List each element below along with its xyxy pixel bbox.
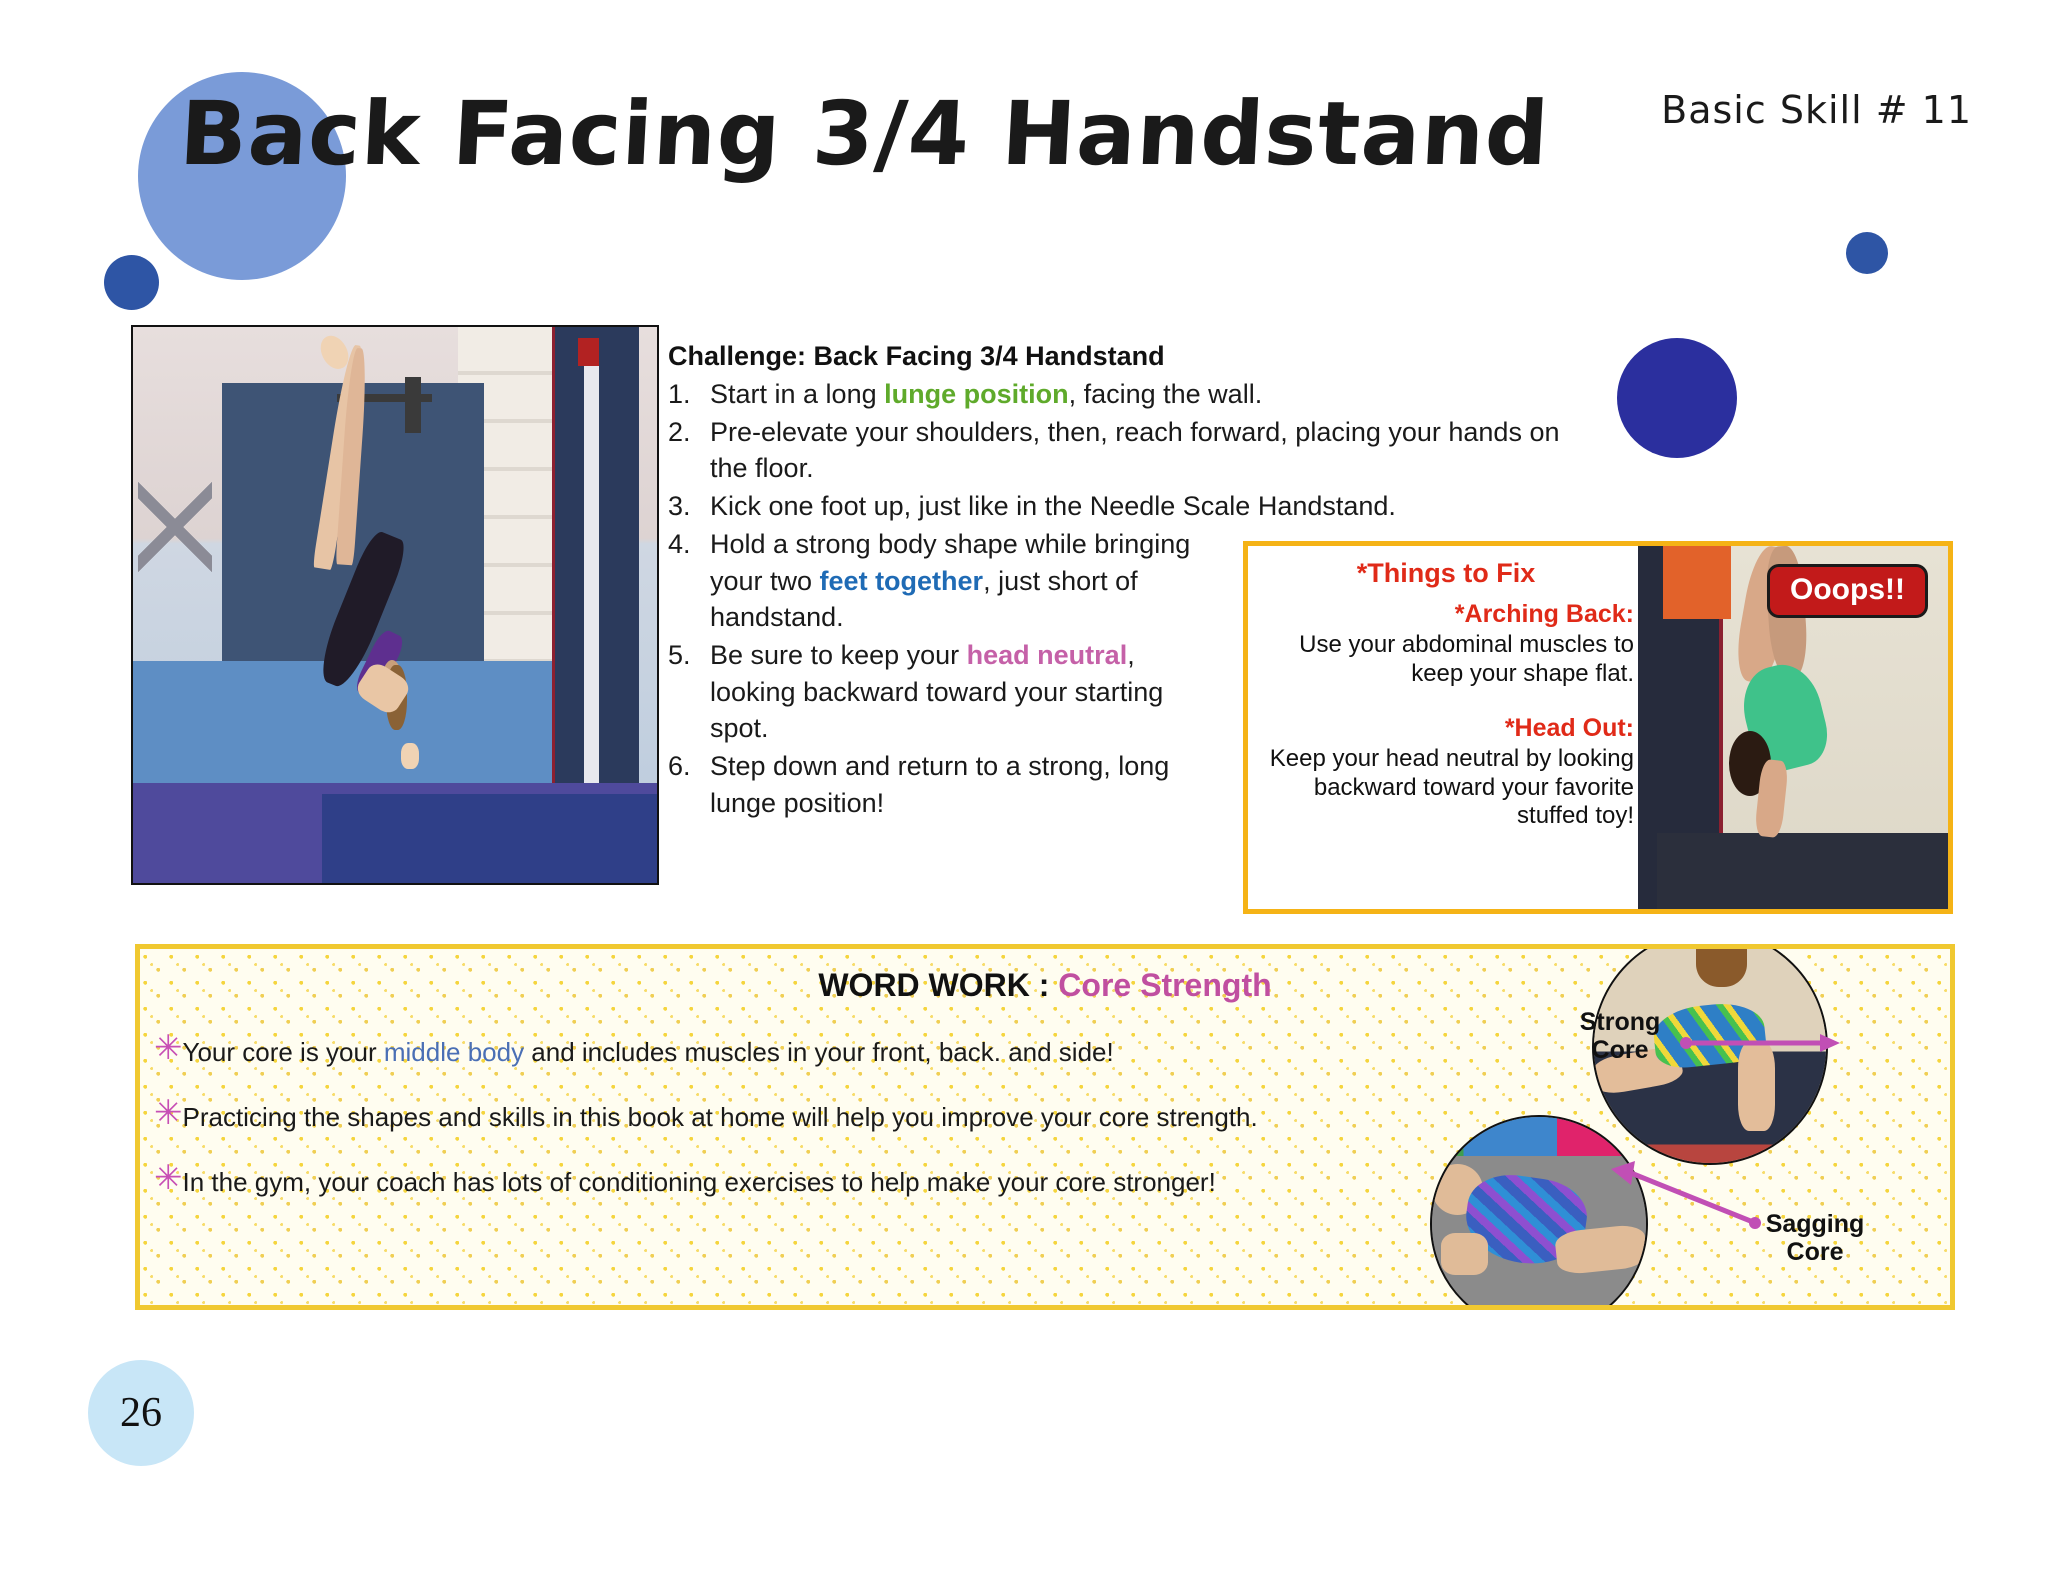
strong-core-arm — [1738, 1042, 1775, 1130]
text-fragment: Pre-elevate your shoulders, then, reach … — [710, 417, 1560, 484]
text-fragment: , facing the wall. — [1069, 379, 1263, 409]
decorative-circle-dark-small-right — [1846, 232, 1888, 274]
sagging-core-mat-strip — [1449, 1117, 1629, 1156]
photo-background-equipment — [138, 460, 211, 593]
photo-floor-mat — [322, 794, 657, 883]
instruction-number: 5. — [668, 637, 710, 747]
strong-core-label: Strong Core — [1560, 1009, 1680, 1064]
sagging-core-arrow-icon — [1605, 1159, 1765, 1239]
text-fragment: Practicing the shapes and skills in this… — [183, 1102, 1258, 1132]
word-work-label: WORD WORK : — [818, 967, 1058, 1003]
text-fragment: Step down and return to a strong, long l… — [710, 751, 1169, 818]
things-to-fix-title: *Things to Fix — [1258, 558, 1634, 590]
ooops-badge: Ooops!! — [1767, 564, 1928, 618]
word-work-bullet-list: ✳Your core is your middle body and inclu… — [154, 1037, 1394, 1233]
word-work-bullet-text: Your core is your middle body and includ… — [183, 1037, 1114, 1068]
things-to-fix-box: *Things to Fix *Arching Back: Use your a… — [1243, 541, 1953, 914]
instruction-text: Step down and return to a strong, long l… — [710, 748, 1210, 821]
instruction-item: 3.Kick one foot up, just like in the Nee… — [668, 488, 1573, 525]
instruction-text: Pre-elevate your shoulders, then, reach … — [710, 414, 1573, 487]
fix-item-heading-0: *Arching Back: — [1258, 600, 1634, 630]
fix-photo-floor — [1657, 833, 1948, 909]
strong-core-label-line2: Core — [1560, 1037, 1680, 1065]
page-title: Back Facing 3/4 Handstand — [177, 82, 1552, 185]
instruction-number: 3. — [668, 488, 710, 525]
decorative-circle-dark-left — [104, 255, 159, 310]
word-work-bullet: ✳Practicing the shapes and skills in thi… — [154, 1102, 1394, 1133]
asterisk-icon: ✳ — [154, 1031, 183, 1065]
main-skill-photo — [131, 325, 659, 885]
things-to-fix-photo: Ooops!! — [1638, 546, 1948, 909]
things-to-fix-text-column: *Things to Fix *Arching Back: Use your a… — [1248, 546, 1648, 909]
fix-item-heading-1: *Head Out: — [1258, 714, 1634, 744]
text-fragment: middle body — [384, 1037, 524, 1067]
word-work-term: Core Strength — [1058, 967, 1271, 1003]
text-fragment: Start in a long — [710, 379, 884, 409]
instruction-number: 2. — [668, 414, 710, 487]
text-fragment: feet together — [820, 566, 984, 596]
strong-core-vase — [1696, 944, 1747, 987]
text-fragment: head neutral — [967, 640, 1128, 670]
instruction-text: Be sure to keep your head neutral, looki… — [710, 637, 1210, 747]
photo-right-pad-stripe — [584, 349, 600, 783]
strong-core-label-line1: Strong — [1560, 1009, 1680, 1037]
photo-red-tag — [578, 338, 599, 366]
text-fragment: Your core is your — [183, 1037, 384, 1067]
text-fragment: and includes muscles in your front, back… — [524, 1037, 1114, 1067]
skill-number-label: Basic Skill # 11 — [1661, 88, 1972, 132]
word-work-bullet-text: Practicing the shapes and skills in this… — [183, 1102, 1258, 1133]
page-number-badge: 26 — [88, 1360, 194, 1466]
photo-gymnast — [306, 344, 442, 778]
sagging-core-label-line2: Core — [1750, 1239, 1880, 1267]
text-fragment: lunge position — [884, 379, 1068, 409]
asterisk-icon: ✳ — [154, 1096, 183, 1130]
fix-item-body-0: Use your abdominal muscles to keep your … — [1258, 631, 1634, 688]
text-fragment: Be sure to keep your — [710, 640, 967, 670]
instruction-number: 4. — [668, 526, 710, 636]
challenge-heading: Challenge: Back Facing 3/4 Handstand — [668, 341, 1165, 372]
asterisk-icon: ✳ — [154, 1161, 183, 1195]
strong-core-arrow-icon — [1680, 1031, 1840, 1055]
decorative-circle-dark-large-right — [1617, 338, 1737, 458]
word-work-box: WORD WORK : Core Strength ✳Your core is … — [135, 944, 1955, 1310]
instruction-text: Hold a strong body shape while bringing … — [710, 526, 1210, 636]
instruction-item: 1.Start in a long lunge position, facing… — [668, 376, 1573, 413]
gymnast-hand — [401, 743, 419, 769]
instruction-text: Start in a long lunge position, facing t… — [710, 376, 1573, 413]
instruction-text: Kick one foot up, just like in the Needl… — [710, 488, 1573, 525]
sagging-core-label-line1: Sagging — [1750, 1211, 1880, 1239]
text-fragment: Kick one foot up, just like in the Needl… — [710, 491, 1396, 521]
page-canvas: Back Facing 3/4 Handstand Basic Skill # … — [0, 0, 2048, 1583]
word-work-bullet: ✳In the gym, your coach has lots of cond… — [154, 1167, 1394, 1198]
word-work-bullet-text: In the gym, your coach has lots of condi… — [183, 1167, 1216, 1198]
word-work-bullet: ✳Your core is your middle body and inclu… — [154, 1037, 1394, 1068]
text-fragment: In the gym, your coach has lots of condi… — [183, 1167, 1216, 1197]
fix-photo-orange-pad — [1663, 546, 1731, 619]
instruction-number: 1. — [668, 376, 710, 413]
sagging-core-label: Sagging Core — [1750, 1211, 1880, 1266]
sagging-core-arm — [1441, 1233, 1488, 1276]
instruction-number: 6. — [668, 748, 710, 821]
fix-item-body-1: Keep your head neutral by looking backwa… — [1258, 745, 1634, 830]
instruction-item: 2.Pre-elevate your shoulders, then, reac… — [668, 414, 1573, 487]
